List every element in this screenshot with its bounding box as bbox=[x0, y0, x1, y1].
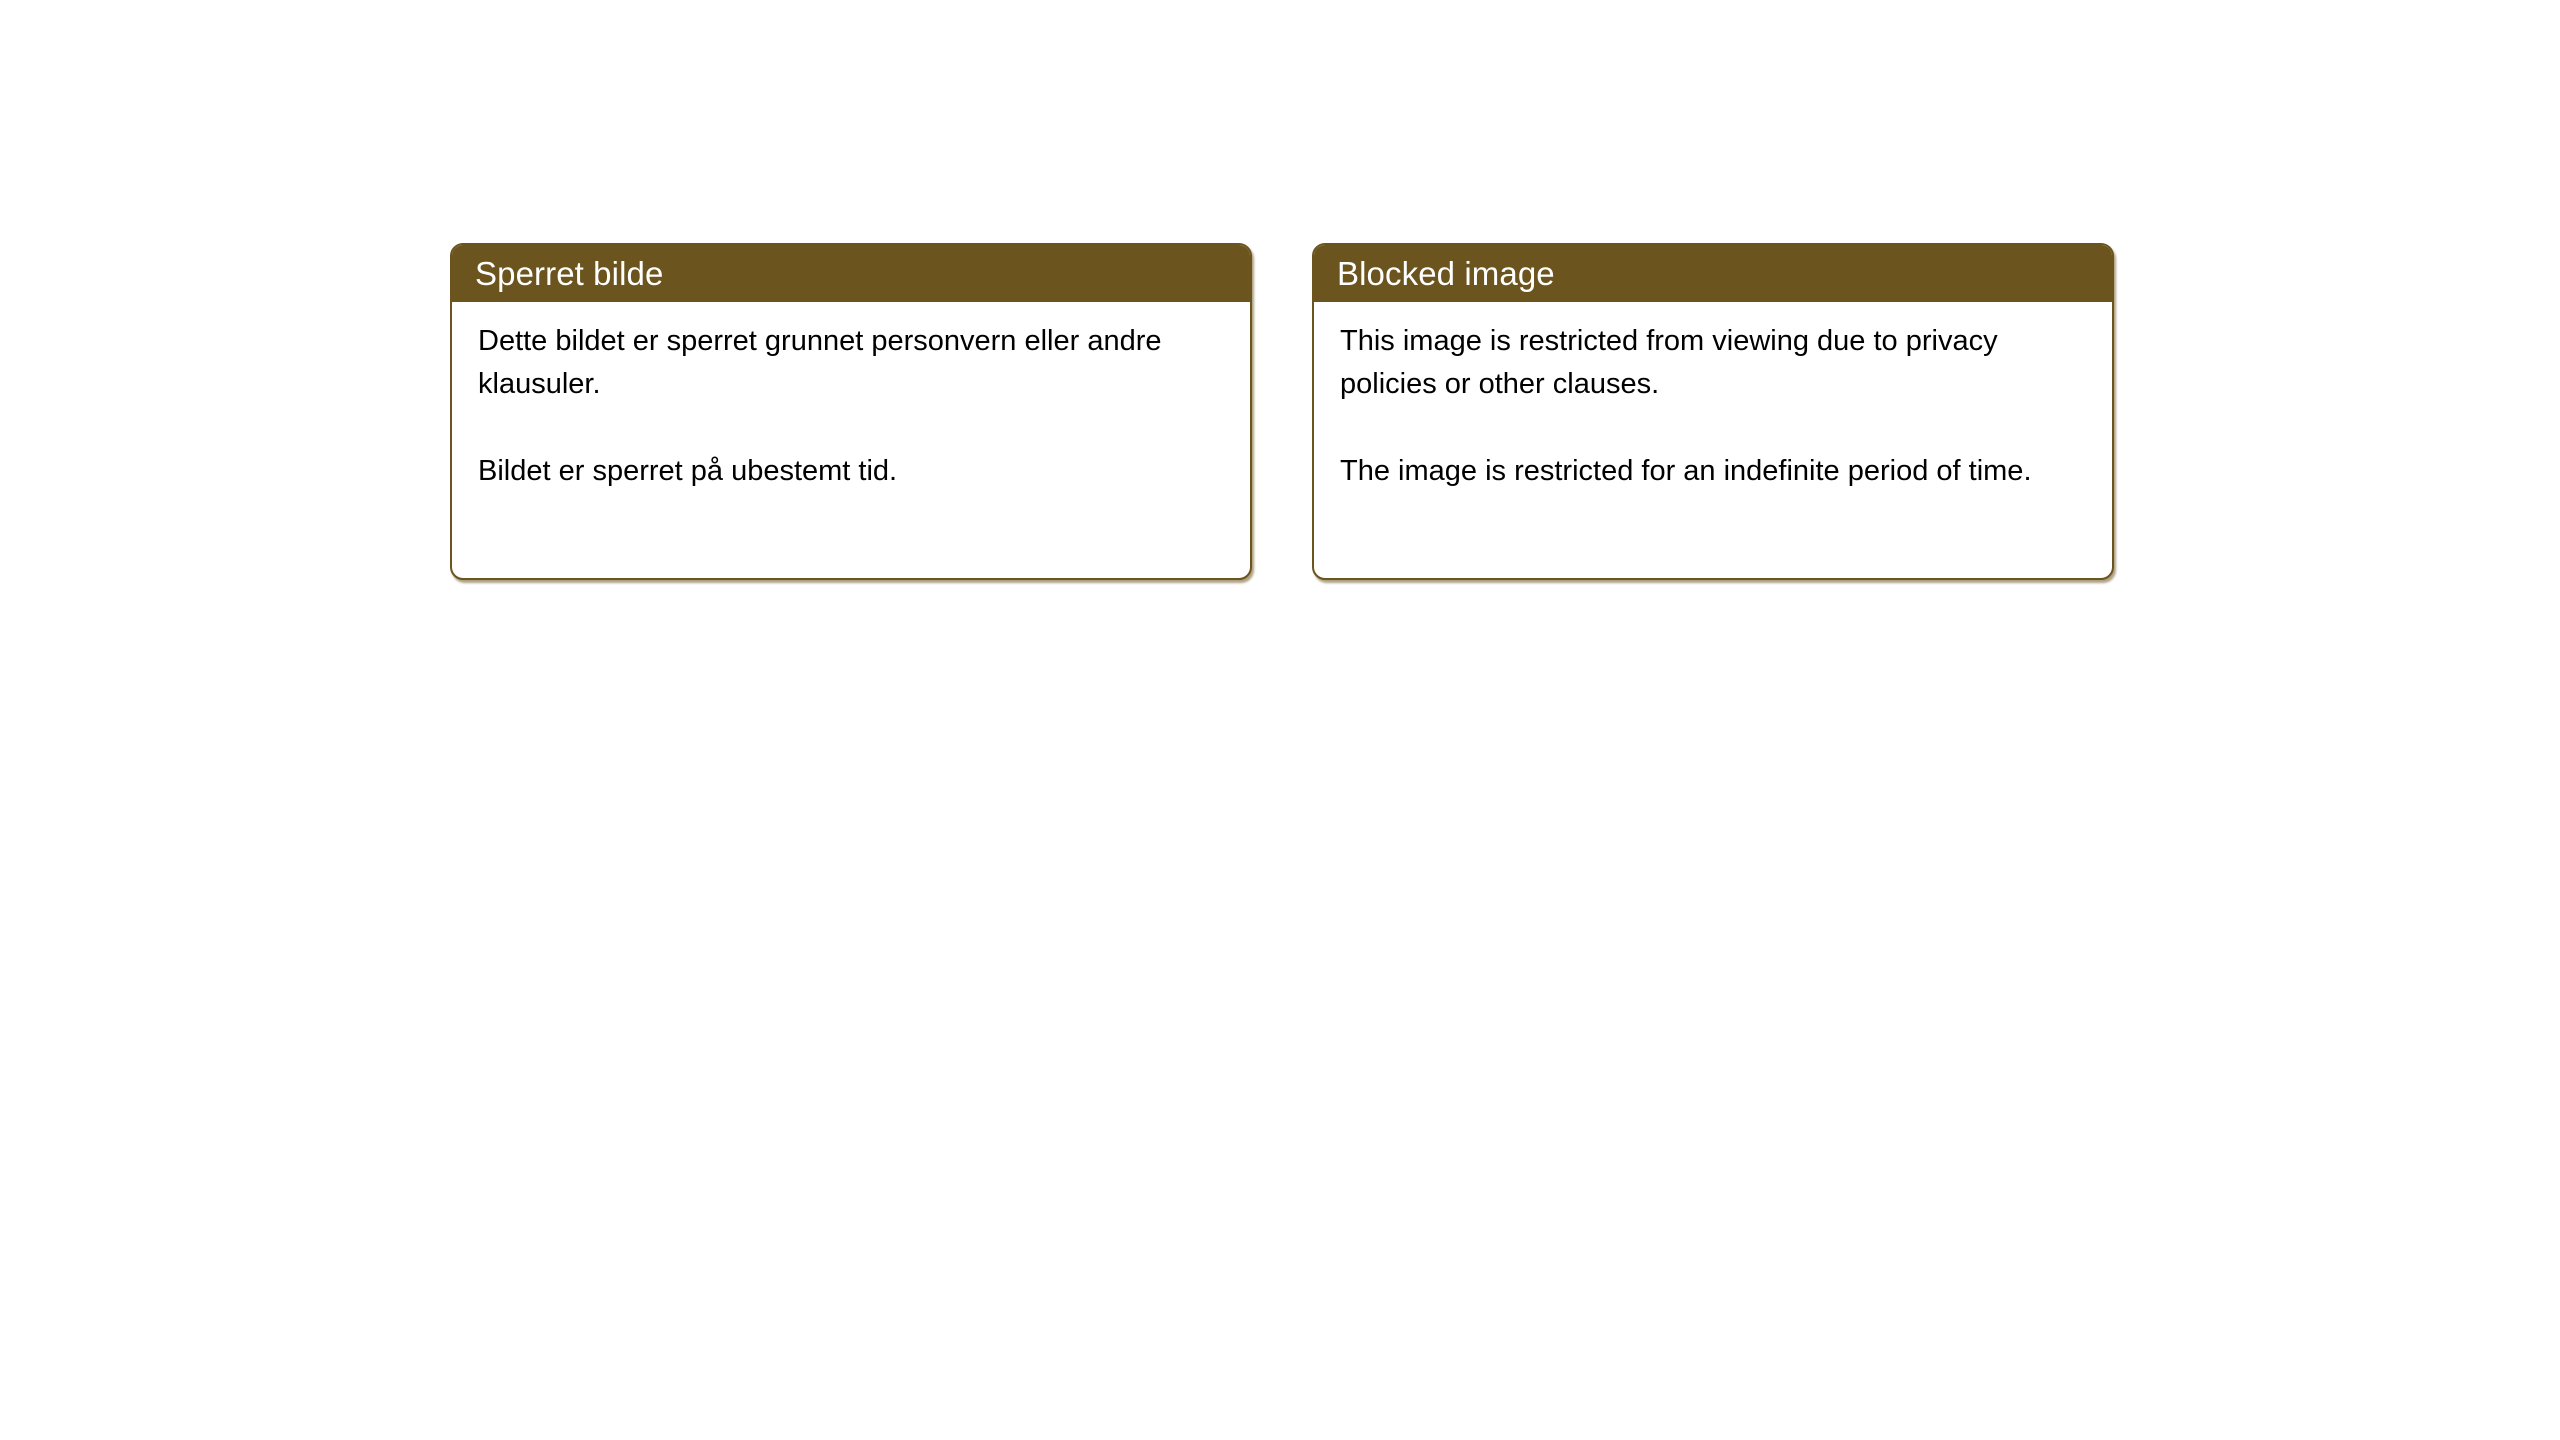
page-root: Sperret bilde Dette bildet er sperret gr… bbox=[0, 0, 2560, 1440]
card-header-english: Blocked image bbox=[1314, 245, 2112, 302]
card-header-norwegian: Sperret bilde bbox=[452, 245, 1250, 302]
card-paragraph-duration-english: The image is restricted for an indefinit… bbox=[1340, 450, 2088, 493]
card-title-english: Blocked image bbox=[1337, 257, 1555, 290]
card-body-norwegian: Dette bildet er sperret grunnet personve… bbox=[452, 302, 1250, 493]
blocked-image-notice-norwegian: Sperret bilde Dette bildet er sperret gr… bbox=[450, 243, 1252, 580]
card-paragraph-reason-norwegian: Dette bildet er sperret grunnet personve… bbox=[478, 320, 1226, 406]
card-body-english: This image is restricted from viewing du… bbox=[1314, 302, 2112, 493]
card-paragraph-duration-norwegian: Bildet er sperret på ubestemt tid. bbox=[478, 450, 1226, 493]
card-paragraph-reason-english: This image is restricted from viewing du… bbox=[1340, 320, 2088, 406]
blocked-image-notice-english: Blocked image This image is restricted f… bbox=[1312, 243, 2114, 580]
card-title-norwegian: Sperret bilde bbox=[475, 257, 663, 290]
